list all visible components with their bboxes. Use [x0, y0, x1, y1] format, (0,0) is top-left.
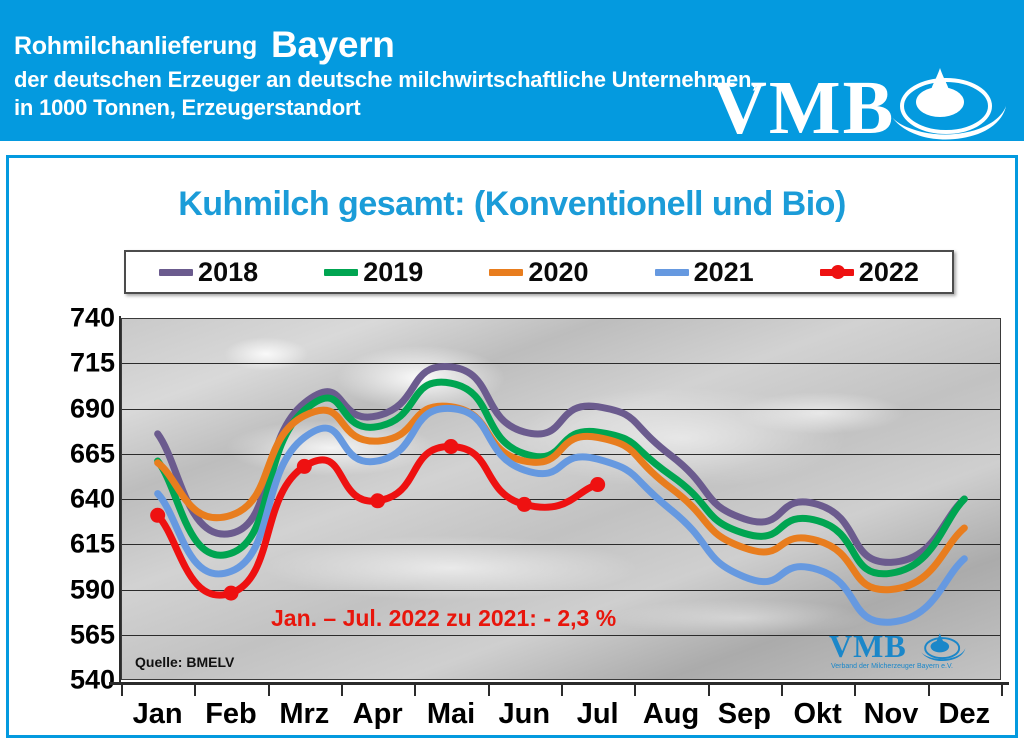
milk-drop-icon	[878, 54, 1008, 142]
y-tick-label: 590	[19, 574, 115, 605]
x-tick	[781, 685, 783, 696]
chart-card: Kuhmilch gesamt: (Konventionell und Bio)…	[6, 155, 1018, 738]
x-axis-label: Nov	[864, 698, 919, 731]
header-title-region: Bayern	[271, 24, 395, 65]
x-axis-label: Feb	[205, 698, 257, 731]
x-axis-label: Jun	[499, 698, 551, 731]
page-header: RohmilchanlieferungBayern der deutschen …	[0, 0, 1024, 141]
x-axis-label: Okt	[793, 698, 841, 731]
x-tick	[194, 685, 196, 696]
x-axis-label: Aug	[643, 698, 699, 731]
x-axis-label: Jan	[133, 698, 183, 731]
data-point-marker-2022	[150, 508, 165, 523]
plot-area: 540565590615640665690715740 JanFebMrzApr…	[9, 158, 1021, 741]
watermark-drop-icon	[897, 628, 985, 662]
y-tick-label: 540	[19, 665, 115, 696]
x-axis-label: Mrz	[279, 698, 329, 731]
data-point-marker-2022	[590, 477, 605, 492]
vmb-logo-text: VMB	[712, 70, 895, 146]
vmb-logo: VMB	[712, 60, 1012, 140]
x-tick	[488, 685, 490, 696]
data-point-marker-2022	[517, 497, 532, 512]
y-tick-label: 665	[19, 438, 115, 469]
x-tick	[121, 685, 123, 696]
data-point-marker-2022	[444, 439, 459, 454]
watermark-subtitle: Verband der Milcherzeuger Bayern e.V.	[831, 663, 953, 670]
x-axis-label: Dez	[939, 698, 991, 731]
x-tick	[1001, 685, 1003, 696]
y-tick-label: 690	[19, 393, 115, 424]
data-point-marker-2022	[224, 586, 239, 601]
header-title-line: RohmilchanlieferungBayern	[14, 26, 395, 63]
x-tick	[854, 685, 856, 696]
y-tick-label: 615	[19, 529, 115, 560]
x-axis-label: Mai	[427, 698, 475, 731]
x-tick	[708, 685, 710, 696]
x-tick	[561, 685, 563, 696]
watermark-logo: VMB Verband der Milcherzeuger Bayern e.V…	[829, 630, 989, 676]
source-label: Quelle: BMELV	[135, 654, 234, 670]
y-tick-label: 740	[19, 303, 115, 334]
y-tick-label: 565	[19, 619, 115, 650]
header-subtitle: der deutschen Erzeuger an deutsche milch…	[14, 66, 774, 122]
x-tick	[268, 685, 270, 696]
x-axis-label: Jul	[577, 698, 619, 731]
data-point-marker-2022	[297, 459, 312, 474]
x-tick	[928, 685, 930, 696]
watermark-vmb-text: VMB	[829, 630, 907, 662]
header-title-prefix: Rohmilchanlieferung	[14, 32, 257, 60]
x-axis-label: Apr	[353, 698, 403, 731]
x-tick	[634, 685, 636, 696]
comparison-annotation: Jan. – Jul. 2022 zu 2021: - 2,3 %	[271, 605, 616, 632]
x-axis-line	[109, 682, 1009, 685]
y-tick-label: 640	[19, 484, 115, 515]
x-tick	[341, 685, 343, 696]
x-axis-label: Sep	[718, 698, 771, 731]
x-tick	[414, 685, 416, 696]
data-point-marker-2022	[370, 493, 385, 508]
y-tick-label: 715	[19, 348, 115, 379]
y-axis: 540565590615640665690715740	[19, 158, 115, 741]
